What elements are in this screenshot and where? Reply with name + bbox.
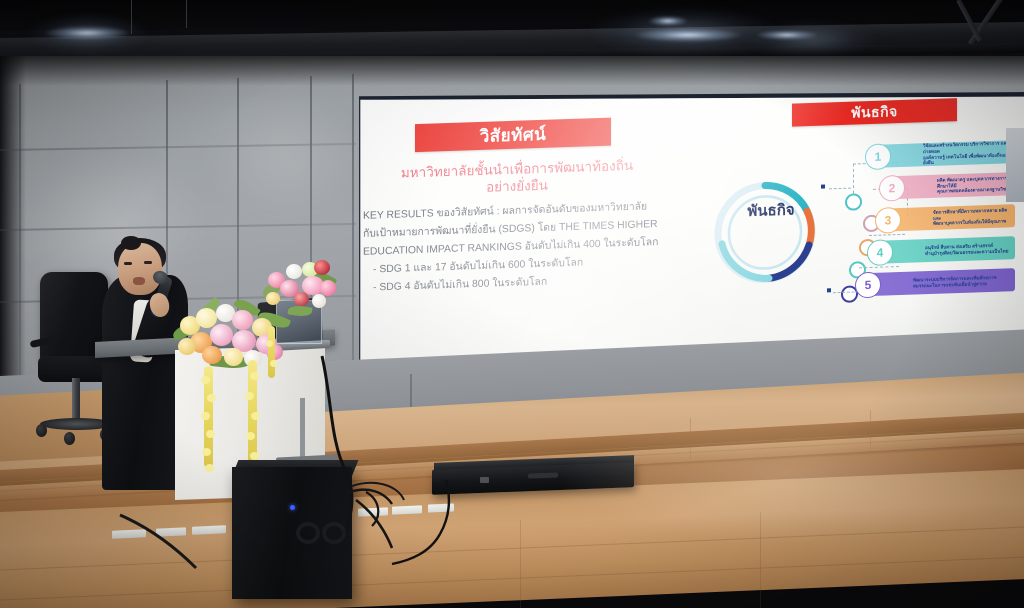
microphone-stand-base: [294, 520, 352, 542]
soundbar-cable: [392, 534, 440, 564]
power-cable: [120, 515, 196, 568]
soundbar-cable: [440, 480, 449, 534]
power-cable: [322, 356, 352, 540]
auditorium-scene: วิสัยทัศน์ มหาวิทยาลัยชั้นนำเพื่อการพัฒน…: [0, 0, 1024, 608]
cable-group: [0, 0, 1024, 608]
mic-stand-icon: [294, 520, 356, 546]
side-display-panel: [1006, 128, 1024, 202]
